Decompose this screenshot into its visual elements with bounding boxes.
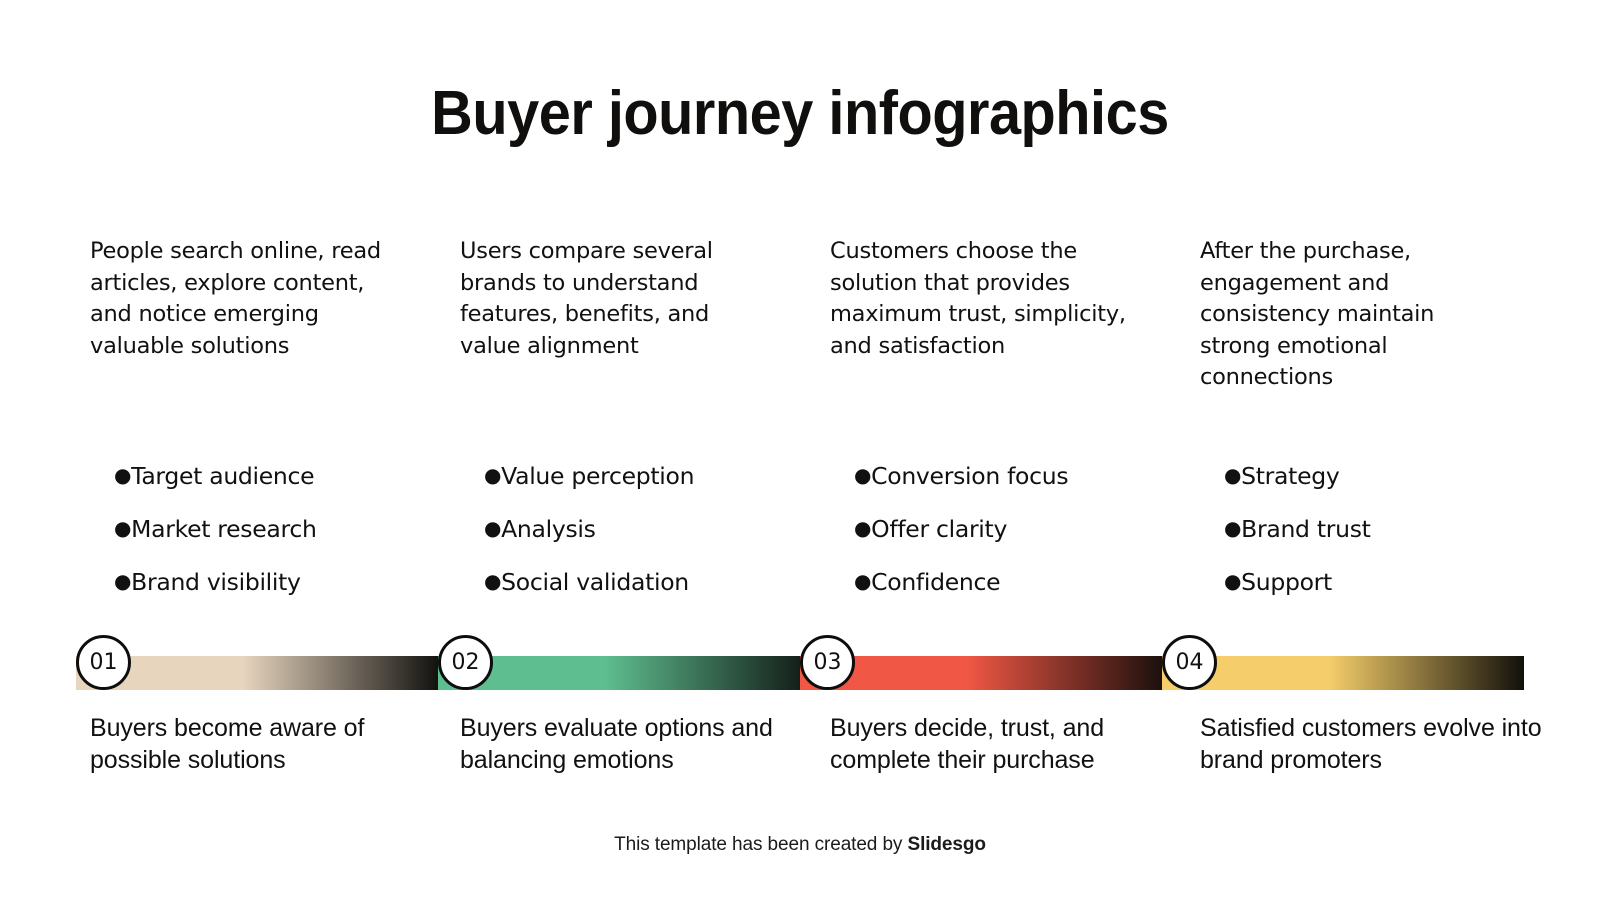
bullet-dot-icon: ● bbox=[114, 569, 131, 593]
list-item: ●Target audience bbox=[114, 450, 446, 503]
stage-column-4: After the purchase, engagement and consi… bbox=[1186, 236, 1556, 394]
stage-bullets-row: ●Target audience ●Market research ●Brand… bbox=[76, 450, 1524, 609]
list-item: ●Strategy bbox=[1224, 450, 1556, 503]
list-item-label: Brand visibility bbox=[131, 568, 301, 596]
bullet-dot-icon: ● bbox=[854, 516, 871, 540]
list-item: ●Market research bbox=[114, 503, 446, 556]
stage-column-1: People search online, read articles, exp… bbox=[76, 236, 446, 394]
bullet-list-4: ●Strategy ●Brand trust ●Support bbox=[1186, 450, 1556, 609]
timeline-node-02[interactable]: 02 bbox=[438, 635, 493, 690]
timeline-node-03[interactable]: 03 bbox=[800, 635, 855, 690]
bullet-dot-icon: ● bbox=[1224, 516, 1241, 540]
bullet-dot-icon: ● bbox=[484, 569, 501, 593]
list-item-label: Social validation bbox=[501, 568, 689, 596]
bullet-list-1: ●Target audience ●Market research ●Brand… bbox=[76, 450, 446, 609]
list-item-label: Target audience bbox=[131, 462, 314, 490]
stage-description-3: Customers choose the solution that provi… bbox=[816, 236, 1148, 362]
timeline-node-04[interactable]: 04 bbox=[1162, 635, 1217, 690]
list-item: ●Brand visibility bbox=[114, 556, 446, 609]
list-item-label: Confidence bbox=[871, 568, 1000, 596]
bullet-dot-icon: ● bbox=[484, 463, 501, 487]
credit-brand: Slidesgo bbox=[908, 834, 986, 855]
list-item: ●Analysis bbox=[484, 503, 816, 556]
stage-caption-1: Buyers become aware of possible solution… bbox=[76, 712, 446, 776]
stage-captions-row: Buyers become aware of possible solution… bbox=[76, 712, 1524, 776]
list-item: ●Social validation bbox=[484, 556, 816, 609]
timeline-node-01[interactable]: 01 bbox=[76, 635, 131, 690]
list-item-label: Market research bbox=[131, 515, 316, 543]
list-item-label: Conversion focus bbox=[871, 462, 1068, 490]
bullet-dot-icon: ● bbox=[854, 569, 871, 593]
bullet-dot-icon: ● bbox=[1224, 463, 1241, 487]
stage-descriptions-row: People search online, read articles, exp… bbox=[76, 236, 1524, 394]
list-item: ●Conversion focus bbox=[854, 450, 1186, 503]
list-item-label: Offer clarity bbox=[871, 515, 1007, 543]
list-item-label: Value perception bbox=[501, 462, 694, 490]
stage-description-1: People search online, read articles, exp… bbox=[76, 236, 398, 362]
stage-caption-3: Buyers decide, trust, and complete their… bbox=[816, 712, 1186, 776]
list-item: ●Confidence bbox=[854, 556, 1186, 609]
list-item-label: Analysis bbox=[501, 515, 595, 543]
stage-column-2: Users compare several brands to understa… bbox=[446, 236, 816, 394]
list-item-label: Support bbox=[1241, 568, 1332, 596]
stage-caption-2: Buyers evaluate options and balancing em… bbox=[446, 712, 816, 776]
bullet-dot-icon: ● bbox=[854, 463, 871, 487]
bullet-dot-icon: ● bbox=[114, 463, 131, 487]
list-item: ●Brand trust bbox=[1224, 503, 1556, 556]
timeline-bar: 01 02 03 04 bbox=[76, 656, 1524, 690]
bullet-dot-icon: ● bbox=[484, 516, 501, 540]
list-item-label: Strategy bbox=[1241, 462, 1339, 490]
bullet-dot-icon: ● bbox=[114, 516, 131, 540]
list-item: ●Value perception bbox=[484, 450, 816, 503]
stage-description-2: Users compare several brands to understa… bbox=[446, 236, 778, 362]
stage-description-4: After the purchase, engagement and consi… bbox=[1186, 236, 1518, 394]
bullet-list-3: ●Conversion focus ●Offer clarity ●Confid… bbox=[816, 450, 1186, 609]
credit-prefix: This template has been created by bbox=[614, 834, 907, 855]
list-item: ●Support bbox=[1224, 556, 1556, 609]
list-item-label: Brand trust bbox=[1241, 515, 1370, 543]
stage-caption-4: Satisfied customers evolve into brand pr… bbox=[1186, 712, 1556, 776]
template-credit: This template has been created by Slides… bbox=[0, 834, 1600, 856]
list-item: ●Offer clarity bbox=[854, 503, 1186, 556]
bullet-dot-icon: ● bbox=[1224, 569, 1241, 593]
stage-column-3: Customers choose the solution that provi… bbox=[816, 236, 1186, 394]
page-title: Buyer journey infographics bbox=[56, 78, 1544, 149]
bullet-list-2: ●Value perception ●Analysis ●Social vali… bbox=[446, 450, 816, 609]
